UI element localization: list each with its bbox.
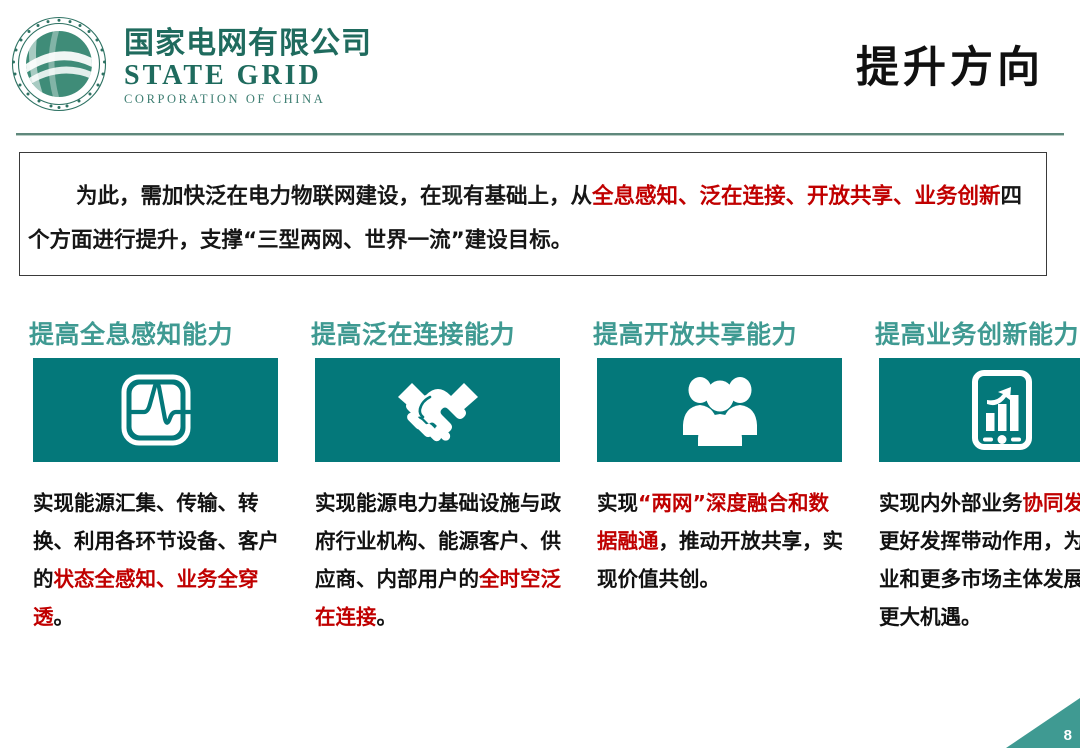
column-heading: 提高全息感知能力: [24, 318, 284, 352]
slide-canvas: 国家电网有限公司 STATE GRID CORPORATION OF CHINA…: [0, 0, 1080, 748]
column-heading: 提高泛在连接能力: [306, 318, 566, 352]
brand-wordmark: 国家电网有限公司 STATE GRID CORPORATION OF CHINA: [124, 28, 372, 107]
text-run: 实现: [597, 491, 638, 515]
capability-column-4: 提高业务创新能力 实现内外部业务协同发展，更好发挥带动作用，为全行业和更多市: [870, 318, 1080, 636]
capability-column-2: 提高泛在连接能力 实现能源电力基础设施与政府行业机构、能源客户、供应商、内部: [306, 318, 566, 636]
column-heading: 提高业务创新能力: [870, 318, 1080, 352]
icon-panel: [597, 358, 842, 462]
page-number-corner: 8: [1006, 698, 1080, 748]
text-run: 全息感知、泛在连接、开放共享、业务创新: [592, 184, 1001, 209]
column-body: 实现能源电力基础设施与政府行业机构、能源客户、供应商、内部用户的全时空泛在连接。: [315, 484, 567, 636]
brand-name-en: STATE GRID: [124, 61, 372, 90]
header-divider: [16, 133, 1064, 136]
icon-panel: [315, 358, 560, 462]
page-number: 8: [1064, 727, 1072, 744]
icon-panel: [879, 358, 1080, 462]
capability-column-1: 提高全息感知能力 实现能源汇集、传输、转换、利用各环节设备、客户的状态全感知、业…: [24, 318, 284, 636]
column-body: 实现内外部业务协同发展，更好发挥带动作用，为全行业和更多市场主体发展创造更大机遇…: [879, 484, 1080, 636]
text-run: 协同发展: [1023, 491, 1080, 515]
state-grid-globe-logo-icon: [8, 14, 110, 114]
page-title: 提升方向: [856, 33, 1044, 95]
slide-header: 国家电网有限公司 STATE GRID CORPORATION OF CHINA…: [0, 0, 1080, 128]
icon-panel: [33, 358, 278, 462]
brand-logo: 国家电网有限公司 STATE GRID CORPORATION OF CHINA: [8, 14, 372, 114]
intro-callout-box: 为此，需加快泛在电力物联网建设，在现有基础上，从全息感知、泛在连接、开放共享、业…: [19, 152, 1047, 276]
waveform-monitor-icon: [114, 371, 198, 449]
capability-columns: 提高全息感知能力 实现能源汇集、传输、转换、利用各环节设备、客户的状态全感知、业…: [0, 318, 1080, 636]
handshake-icon: [392, 371, 484, 449]
text-run: 。: [377, 605, 398, 629]
brand-name-cn: 国家电网有限公司: [124, 28, 372, 60]
text-run: 。: [54, 605, 75, 629]
text-run: 为此，需加快泛在电力物联网建设，在现有基础上，从: [76, 184, 592, 209]
capability-column-3: 提高开放共享能力 实现“两网”深度融合和数据融通，推动开放共享，实现价值共创。: [588, 318, 848, 636]
people-group-icon: [674, 371, 766, 449]
column-body: 实现能源汇集、传输、转换、利用各环节设备、客户的状态全感知、业务全穿透。: [33, 484, 285, 636]
column-heading: 提高开放共享能力: [588, 318, 848, 352]
brand-name-en-sub: CORPORATION OF CHINA: [124, 93, 372, 107]
intro-paragraph: 为此，需加快泛在电力物联网建设，在现有基础上，从全息感知、泛在连接、开放共享、业…: [20, 153, 1046, 263]
mobile-growth-chart-icon: [969, 369, 1035, 451]
text-run: 实现内外部业务: [879, 491, 1023, 515]
column-body: 实现“两网”深度融合和数据融通，推动开放共享，实现价值共创。: [597, 484, 849, 598]
